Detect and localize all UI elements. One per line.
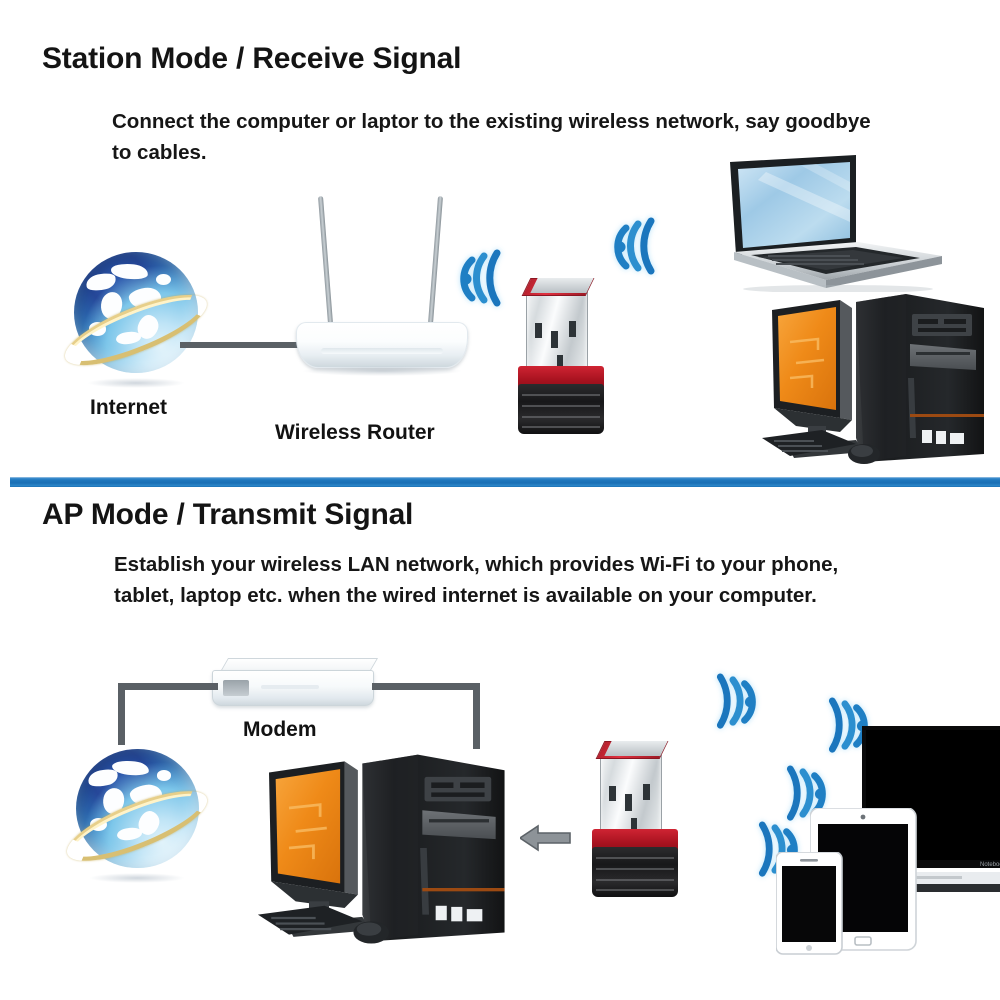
label-internet: Internet	[90, 396, 167, 420]
laptop-icon	[706, 152, 976, 292]
usb-adapter-icon	[592, 755, 680, 901]
desktop-pc-icon	[760, 288, 1000, 468]
left-arrow-icon	[520, 822, 572, 854]
wifi-signal-icon	[612, 216, 672, 278]
svg-text:Notebook: Notebook	[980, 862, 1000, 868]
section-title-ap-mode: AP Mode / Transmit Signal	[42, 498, 413, 532]
section-divider	[10, 477, 1000, 487]
globe-icon	[62, 740, 212, 886]
infographic-page: Station Mode / Receive Signal Connect th…	[0, 0, 1000, 1000]
phone-icon	[776, 852, 844, 956]
cable-globe-to-router	[180, 342, 302, 348]
wifi-signal-icon	[700, 672, 758, 732]
wifi-signal-icon	[458, 248, 518, 310]
cable-modem-to-pc	[473, 683, 480, 749]
cable-modem-to-globe	[118, 683, 125, 745]
label-wireless-router: Wireless Router	[275, 421, 435, 445]
usb-adapter-icon	[518, 292, 606, 438]
label-modem: Modem	[243, 718, 317, 742]
router-icon	[296, 196, 468, 376]
section-title-station-mode: Station Mode / Receive Signal	[42, 42, 461, 76]
cable-modem-left	[118, 683, 218, 690]
globe-icon	[60, 243, 212, 391]
desktop-pc-icon	[244, 748, 534, 948]
modem-icon	[212, 658, 376, 708]
section-body-ap-mode: Establish your wireless LAN network, whi…	[114, 549, 874, 611]
cable-modem-right	[372, 683, 480, 690]
